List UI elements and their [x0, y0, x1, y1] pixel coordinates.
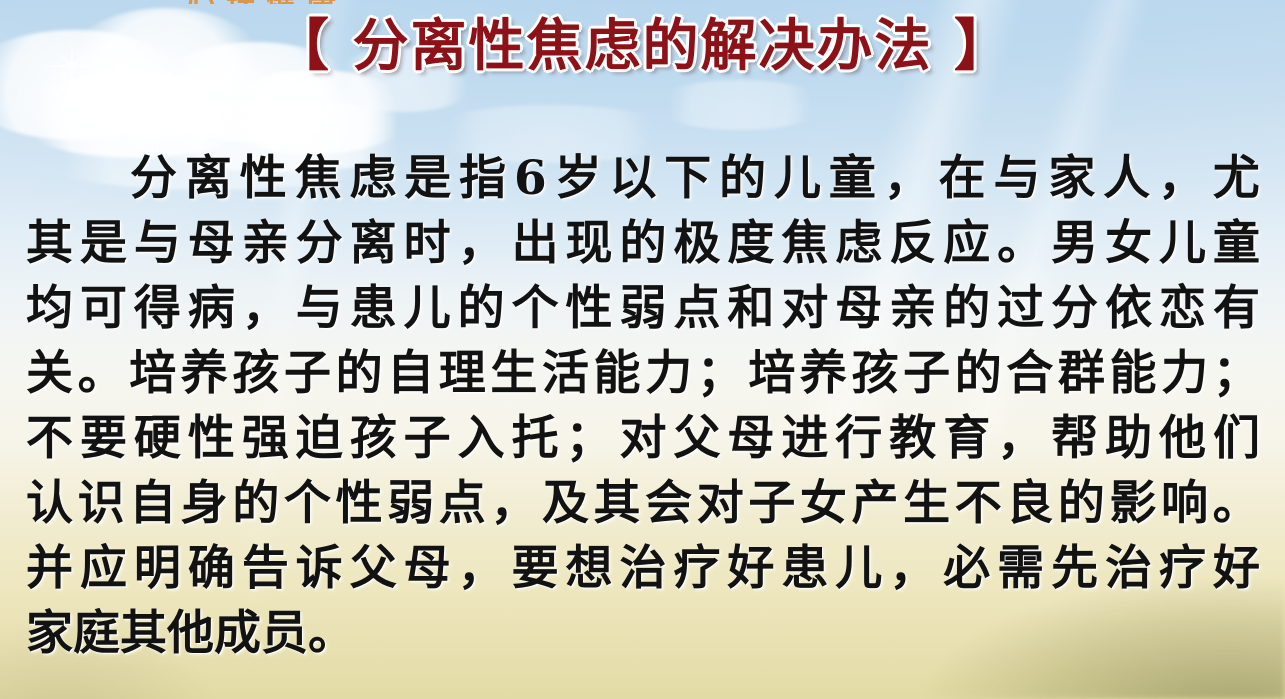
body-glyph: 得 [134, 276, 181, 341]
body-glyph: 与 [993, 146, 1040, 211]
body-glyph: 治 [1105, 536, 1152, 601]
body-glyph: 男 [1051, 211, 1098, 276]
body-glyph: 分 [296, 211, 343, 276]
body-glyph: 性 [188, 406, 235, 471]
body-glyph: 与 [134, 211, 181, 276]
body-glyph: 培 [129, 341, 176, 406]
body-line: 不要硬性强迫孩子入托；对父母进行教育，帮助他们 [26, 406, 1260, 471]
body-glyph: 好 [1213, 536, 1260, 601]
body-glyph: 的 [458, 276, 505, 341]
body-glyph: 母 [404, 536, 451, 601]
body-glyph: 孩 [232, 341, 279, 406]
body-glyph: 童 [1213, 211, 1260, 276]
body-glyph: 其 [26, 211, 73, 276]
body-glyph: 要 [512, 536, 559, 601]
body-glyph: 入 [458, 406, 505, 471]
body-glyph: 对 [781, 276, 828, 341]
body-glyph: ； [1213, 341, 1260, 406]
body-glyph: 助 [1105, 406, 1152, 471]
body-glyph: 告 [242, 536, 289, 601]
body-glyph: ， [1158, 146, 1205, 211]
body-glyph: 子 [404, 406, 451, 471]
body-glyph: 分 [1051, 276, 1098, 341]
body-glyph: 可 [80, 276, 127, 341]
body-glyph: 尤 [1213, 146, 1260, 211]
body-glyph: 硬 [134, 406, 181, 471]
body-glyph: 性 [566, 276, 613, 341]
body-glyph: 身 [181, 471, 228, 536]
body-glyph: 他 [1159, 406, 1206, 471]
body-glyph: 是 [404, 146, 451, 211]
body-glyph: 诉 [296, 536, 343, 601]
body-glyph: 确 [188, 536, 235, 601]
body-glyph: 子 [284, 341, 331, 406]
body-glyph: 理 [439, 341, 486, 406]
body-glyph: 子 [903, 341, 950, 406]
body-glyph: 下 [664, 146, 711, 211]
body-glyph: 进 [781, 406, 828, 471]
body-glyph: 需 [997, 536, 1044, 601]
body-glyph: 的 [336, 341, 383, 406]
body-glyph: 父 [350, 536, 397, 601]
body-glyph: 女 [1105, 211, 1152, 276]
body-glyph: 的 [943, 276, 990, 341]
body-glyph: 过 [997, 276, 1044, 341]
body-glyph: 离 [350, 211, 397, 276]
body-glyph: 点 [673, 276, 720, 341]
body-glyph: 自 [387, 341, 434, 406]
body-glyph: 度 [727, 211, 774, 276]
body-glyph: 不 [955, 471, 1002, 536]
body-glyph: 必 [943, 536, 990, 601]
body-glyph: 生 [903, 471, 950, 536]
body-glyph: 强 [242, 406, 289, 471]
body-glyph: 认 [26, 471, 73, 536]
body-glyph: 依 [1105, 276, 1152, 341]
page-title: 【 分离性焦虑的解决办法 】 [0, 18, 1285, 77]
body-glyph: 童 [829, 146, 876, 211]
body-glyph: 弱 [387, 471, 434, 536]
body-glyph: 影 [1109, 471, 1156, 536]
body-glyph: 父 [673, 406, 720, 471]
body-glyph: ， [997, 406, 1044, 471]
body-glyph: 反 [889, 211, 936, 276]
body-glyph: 孩 [350, 406, 397, 471]
body-glyph: 弱 [619, 276, 666, 341]
body-glyph: 教 [889, 406, 936, 471]
body-glyph: 力 [645, 341, 692, 406]
body-glyph: 及 [542, 471, 589, 536]
body-glyph: 对 [697, 471, 744, 536]
body-glyph: 的 [955, 341, 1002, 406]
body-line: 并应明确告诉父母，要想治疗好患儿，必需先治疗好 [26, 536, 1260, 601]
body-glyph: 。 [1213, 471, 1260, 536]
body-glyph: 关 [26, 341, 73, 406]
body-glyph: 孩 [852, 341, 899, 406]
body-glyph: 要 [80, 406, 127, 471]
body-glyph: 有 [1213, 276, 1260, 341]
slide-content: 【 分离性焦虑的解决办法 】 分离性焦虑是指6岁以下的儿童，在与家人，尤 其是与… [0, 0, 1285, 699]
body-glyph: 疗 [673, 536, 720, 601]
body-glyph: 行 [835, 406, 882, 471]
body-glyph: 良 [1006, 471, 1053, 536]
body-glyph: 合 [1006, 341, 1053, 406]
body-glyph: 女 [800, 471, 847, 536]
body-glyph: 能 [594, 341, 641, 406]
body-text-block: 分离性焦虑是指6岁以下的儿童，在与家人，尤 其是与母亲分离时，出现的极度焦虑反应… [26, 146, 1260, 666]
body-line: 其是与母亲分离时，出现的极度焦虑反应。男女儿童 [26, 211, 1260, 276]
body-glyph: 病 [188, 276, 235, 341]
body-glyph: 现 [566, 211, 613, 276]
body-glyph: 对 [619, 406, 666, 471]
body-glyph: 以 [609, 146, 656, 211]
body-glyph: ； [697, 341, 744, 406]
body-glyph: 6 [514, 146, 547, 211]
body-glyph: 养 [181, 341, 228, 406]
body-glyph: 指 [459, 146, 506, 211]
body-glyph: 均 [26, 276, 73, 341]
body-glyph: 响 [1161, 471, 1208, 536]
body-glyph: ， [490, 471, 537, 536]
body-glyph: 母 [727, 406, 774, 471]
body-glyph: 母 [835, 276, 882, 341]
slide-canvas: 心理健康 【 分离性焦虑的解决办法 】 分离性焦虑是指6岁以下的儿童，在与家人，… [0, 0, 1285, 699]
body-glyph: 迫 [296, 406, 343, 471]
body-glyph: 托 [512, 406, 559, 471]
body-glyph: 育 [943, 406, 990, 471]
body-glyph: 患 [781, 536, 828, 601]
body-glyph: 患 [350, 276, 397, 341]
body-line: 认识自身的个性弱点，及其会对子女产生不良的影响。 [26, 471, 1260, 536]
body-glyph: 会 [645, 471, 692, 536]
body-glyph: 个 [284, 471, 331, 536]
body-glyph: 虑 [349, 146, 396, 211]
body-glyph: 时 [404, 211, 451, 276]
body-glyph: 先 [1051, 536, 1098, 601]
body-glyph: 性 [240, 146, 287, 211]
body-glyph: 其 [594, 471, 641, 536]
body-glyph: 。 [997, 211, 1044, 276]
body-glyph: 。 [78, 341, 125, 406]
body-glyph: 儿 [1159, 211, 1206, 276]
body-glyph: 好 [727, 536, 774, 601]
body-glyph: 想 [566, 536, 613, 601]
body-glyph: 极 [673, 211, 720, 276]
body-glyph: 群 [1058, 341, 1105, 406]
body-line: 分离性焦虑是指6岁以下的儿童，在与家人，尤 [26, 146, 1260, 211]
body-glyph: 家 [1048, 146, 1095, 211]
body-glyph: 自 [129, 471, 176, 536]
body-glyph: 治 [619, 536, 666, 601]
body-glyph: 们 [1213, 406, 1260, 471]
body-glyph: 在 [939, 146, 986, 211]
body-glyph: 活 [542, 341, 589, 406]
body-glyph: 个 [512, 276, 559, 341]
body-glyph: 亲 [889, 276, 936, 341]
body-glyph: 点 [439, 471, 486, 536]
body-glyph: ， [458, 211, 505, 276]
body-glyph: 应 [943, 211, 990, 276]
body-glyph: 岁 [555, 146, 602, 211]
body-glyph: 识 [78, 471, 125, 536]
body-glyph: 力 [1161, 341, 1208, 406]
body-glyph: 生 [490, 341, 537, 406]
body-glyph: 子 [748, 471, 795, 536]
body-glyph: 应 [80, 536, 127, 601]
body-glyph: 明 [134, 536, 181, 601]
body-glyph: 不 [26, 406, 73, 471]
body-glyph: 虑 [835, 211, 882, 276]
body-glyph: 焦 [295, 146, 342, 211]
body-glyph: 儿 [835, 536, 882, 601]
body-glyph: 出 [512, 211, 559, 276]
body-glyph: 并 [26, 536, 73, 601]
body-glyph: 帮 [1051, 406, 1098, 471]
body-glyph: 离 [185, 146, 232, 211]
body-glyph: 培 [748, 341, 795, 406]
body-glyph: ， [889, 536, 936, 601]
body-glyph: 儿 [774, 146, 821, 211]
body-glyph: 和 [727, 276, 774, 341]
body-glyph: ； [566, 406, 613, 471]
body-glyph: 母 [188, 211, 235, 276]
body-glyph: 是 [80, 211, 127, 276]
body-line: 关。培养孩子的自理生活能力；培养孩子的合群能力； [26, 341, 1260, 406]
body-glyph: 能 [1109, 341, 1156, 406]
body-glyph: 亲 [242, 211, 289, 276]
body-glyph: 养 [800, 341, 847, 406]
body-line: 均可得病，与患儿的个性弱点和对母亲的过分依恋有 [26, 276, 1260, 341]
body-glyph: 的 [1058, 471, 1105, 536]
body-glyph: ， [458, 536, 505, 601]
body-glyph: 产 [852, 471, 899, 536]
body-glyph: 儿 [404, 276, 451, 341]
body-glyph: 分 [130, 146, 177, 211]
body-line: 家庭其他成员。 [26, 601, 1260, 666]
body-glyph: 性 [336, 471, 383, 536]
body-glyph: ， [884, 146, 931, 211]
body-glyph: 焦 [781, 211, 828, 276]
body-glyph: ， [242, 276, 289, 341]
body-glyph: 的 [232, 471, 279, 536]
body-glyph: 恋 [1159, 276, 1206, 341]
body-glyph: 的 [719, 146, 766, 211]
body-glyph: 疗 [1159, 536, 1206, 601]
body-glyph: 人 [1103, 146, 1150, 211]
body-glyph: 的 [619, 211, 666, 276]
body-glyph: 与 [296, 276, 343, 341]
